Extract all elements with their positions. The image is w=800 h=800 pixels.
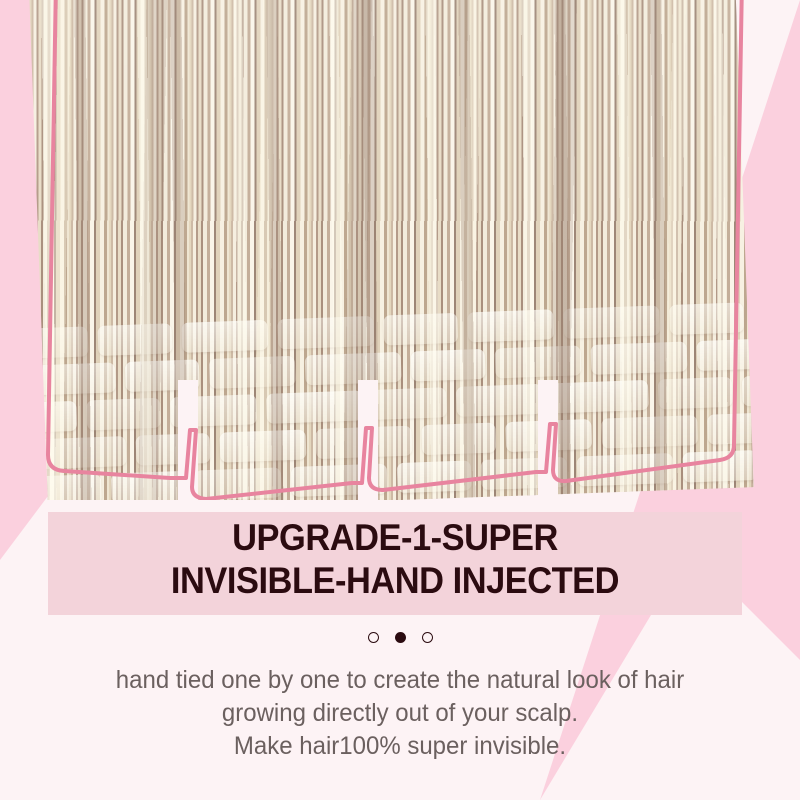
tape-weft-tab <box>669 302 744 335</box>
tape-weft-tab <box>209 356 296 389</box>
tape-weft-tab <box>195 467 282 500</box>
description-line-1: hand tied one by one to create the natur… <box>16 664 784 697</box>
carousel-dot-3[interactable] <box>422 632 433 643</box>
tape-weft-tab <box>86 398 161 431</box>
page-title: UPGRADE-1-SUPER INVISIBLE-HAND INJECTED <box>72 516 717 602</box>
tape-weft-tab <box>397 460 472 493</box>
tape-weft-tab <box>372 387 447 420</box>
tape-weft-tab <box>682 450 753 483</box>
tape-weft-tab <box>266 390 363 423</box>
bundle-gap-2 <box>358 380 378 500</box>
title-line-1: UPGRADE-1-SUPER <box>232 517 558 558</box>
tape-weft-tab <box>305 352 402 385</box>
hair-sheen <box>28 0 746 283</box>
tape-weft-tab <box>28 474 102 500</box>
tape-weft-tab <box>456 384 543 417</box>
tape-weft-tab <box>277 316 374 349</box>
tape-weft-tab <box>742 373 754 406</box>
title-line-2: INVISIBLE-HAND INJECTED <box>72 559 717 602</box>
tape-weft-tab <box>707 412 754 445</box>
tape-weft-tab <box>601 415 698 448</box>
hair-extension-photo <box>0 0 800 500</box>
tape-weft-tab <box>28 401 78 434</box>
carousel-dot-2[interactable] <box>395 632 406 643</box>
bundle-gap-1 <box>178 380 198 500</box>
carousel-dots[interactable] <box>0 632 800 643</box>
tape-weft-tab <box>28 362 116 395</box>
tape-weft-tab <box>28 326 89 359</box>
tape-weft-tab <box>411 349 486 382</box>
tape-weft-tab <box>467 309 554 342</box>
tape-weft-tab <box>111 471 186 500</box>
hair-strands <box>28 0 754 500</box>
tape-weft-tab <box>696 338 753 371</box>
tape-weft-tab <box>590 341 687 374</box>
tape-weft-row <box>36 413 754 470</box>
tape-weft-tab <box>97 323 172 356</box>
bundle-gap-3 <box>538 380 558 500</box>
tape-weft-tab <box>219 429 306 462</box>
tape-weft-tab <box>577 453 674 486</box>
tape-weft-tab <box>30 436 127 469</box>
carousel-dot-1[interactable] <box>368 632 379 643</box>
description-line-2: growing directly out of your scalp. <box>16 697 784 730</box>
tape-weft-tab <box>383 313 458 346</box>
tape-weft-row <box>31 302 753 359</box>
tape-weft-row <box>37 450 754 500</box>
product-image-canvas: UPGRADE-1-SUPER INVISIBLE-HAND INJECTED … <box>0 0 800 800</box>
tape-weft-row <box>33 339 754 396</box>
tape-weft-tab <box>563 305 660 338</box>
description-text: hand tied one by one to create the natur… <box>16 664 784 763</box>
description-line-3: Make hair100% super invisible. <box>16 730 784 763</box>
tape-weft-tab <box>421 422 496 455</box>
tape-weft-tab <box>753 299 754 332</box>
tape-weft-tab <box>495 345 582 378</box>
tape-weft-tab <box>552 380 649 413</box>
tape-weft-tab <box>135 433 210 466</box>
tape-weft-tab <box>658 377 733 410</box>
tape-weft-row <box>34 376 754 433</box>
tape-weft-tab <box>181 320 268 353</box>
